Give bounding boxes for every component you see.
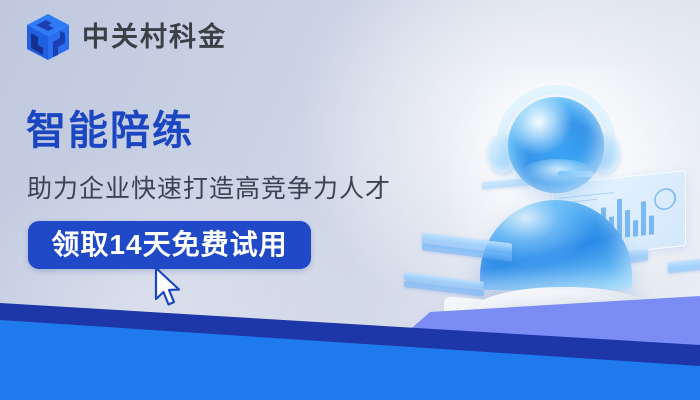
brand-logo[interactable]: 中关村科金 [24,12,227,62]
promo-banner: 中关村科金 智能陪练 助力企业快速打造高竞争力人才 领取14天免费试用 [0,0,700,400]
page-subtitle: 助力企业快速打造高竞争力人才 [27,174,391,204]
free-trial-button[interactable]: 领取14天免费试用 [28,221,311,269]
page-title: 智能陪练 [26,110,194,152]
cube-logo-icon [24,12,72,62]
brand-name: 中关村科金 [82,24,227,51]
